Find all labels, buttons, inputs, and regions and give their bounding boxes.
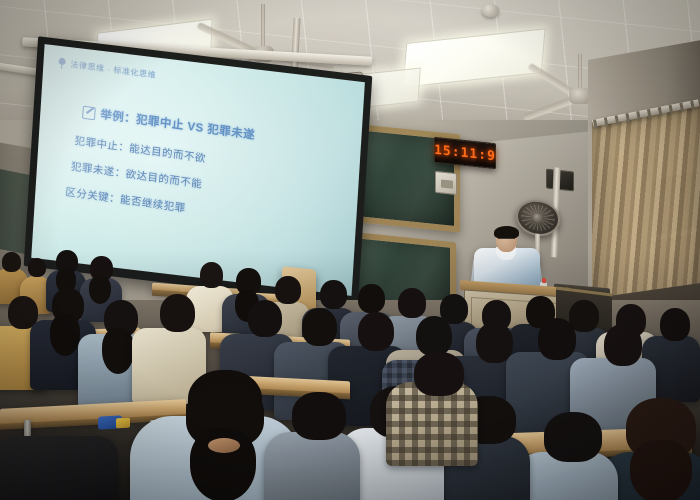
- slide-line: 犯罪中止：能达目的而不欲: [74, 133, 206, 166]
- slide-line: 犯罪未遂：欲达目的而不能: [70, 159, 202, 192]
- slide-line: 区分关键：能否继续犯罪: [65, 184, 186, 216]
- slide-header: 法律思维 · 标准化思维: [57, 57, 157, 81]
- classroom-photo: 15:11:9 法律思维 · 标准化思维 举例: [0, 0, 700, 500]
- wall-outlet-panel[interactable]: [435, 171, 457, 195]
- slide-title: 举例：犯罪中止 VS 犯罪未遂: [100, 106, 256, 143]
- pencil-edit-icon: [82, 105, 96, 120]
- slide-title-row: 举例：犯罪中止 VS 犯罪未遂: [82, 104, 256, 143]
- slide-header-text: 法律思维 · 标准化思维: [70, 59, 157, 81]
- ceiling-sensor: [482, 4, 499, 17]
- clock-display: 15:11:9: [434, 142, 496, 163]
- hair-scrunchie: [208, 438, 240, 453]
- lightbulb-icon: [57, 57, 67, 69]
- desk-item: [116, 418, 130, 429]
- glasses-icon: [498, 238, 515, 242]
